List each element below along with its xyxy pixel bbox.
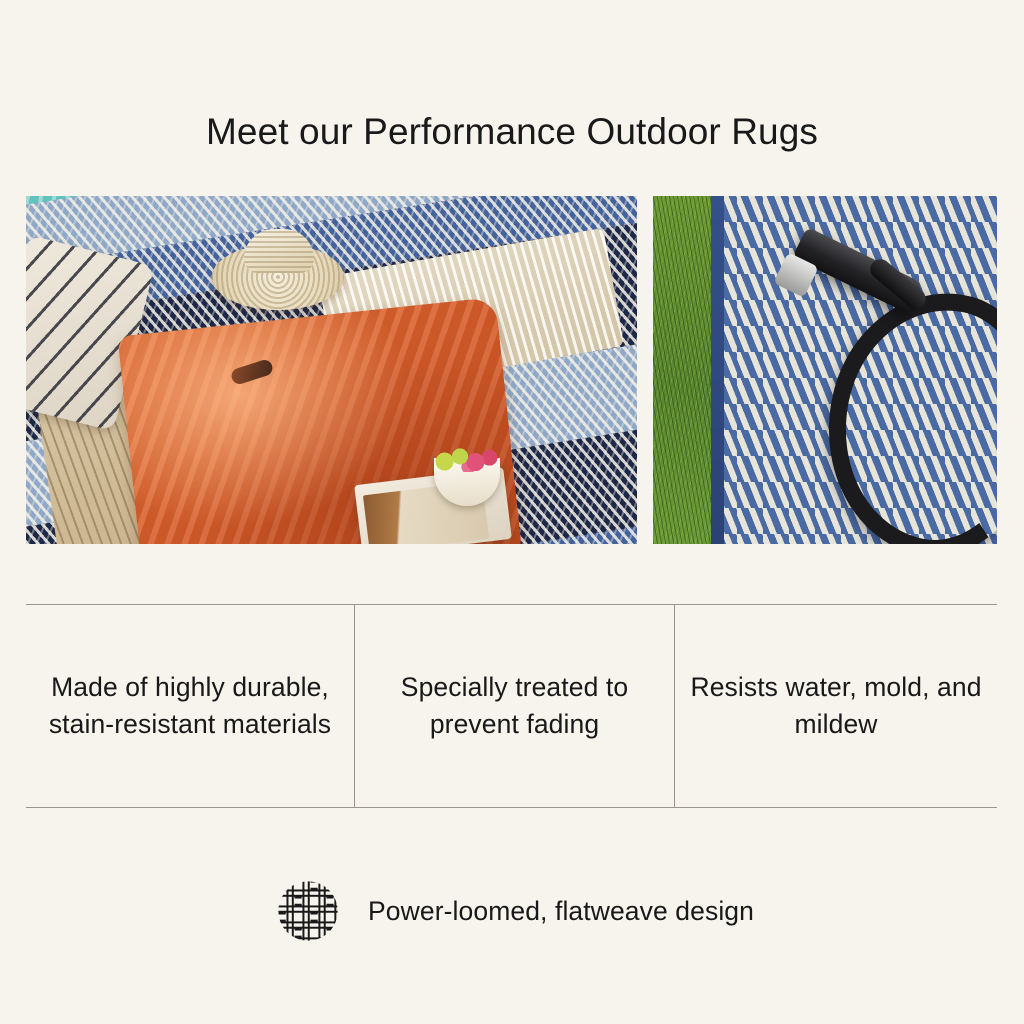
feature-col-3: Resists water, mold, and mildew bbox=[674, 605, 997, 807]
straw-hat-crown bbox=[244, 229, 314, 273]
feature-col-2: Specially treated to prevent fading bbox=[354, 605, 674, 807]
flatweave-badge-label: Power-loomed, flatweave design bbox=[368, 894, 754, 928]
feature-text-1: Made of highly durable, stain-resistant … bbox=[40, 669, 340, 743]
rug-border-band bbox=[711, 196, 724, 544]
poolside-rug-photo bbox=[26, 196, 637, 544]
feature-text-3: Resists water, mold, and mildew bbox=[689, 669, 983, 743]
feature-row: Made of highly durable, stain-resistant … bbox=[26, 604, 997, 808]
flatweave-badge: Power-loomed, flatweave design bbox=[0, 873, 1024, 949]
rug-hose-photo bbox=[653, 196, 997, 544]
fruit bbox=[432, 446, 502, 472]
grass-lawn bbox=[653, 196, 711, 544]
feature-text-2: Specially treated to prevent fading bbox=[369, 669, 660, 743]
weave-pattern-icon bbox=[270, 873, 346, 949]
promo-page: Meet our Performance Outdoor Rugs bbox=[0, 0, 1024, 1024]
feature-col-1: Made of highly durable, stain-resistant … bbox=[26, 605, 354, 807]
page-title: Meet our Performance Outdoor Rugs bbox=[0, 109, 1024, 155]
photo-gallery bbox=[26, 196, 997, 544]
